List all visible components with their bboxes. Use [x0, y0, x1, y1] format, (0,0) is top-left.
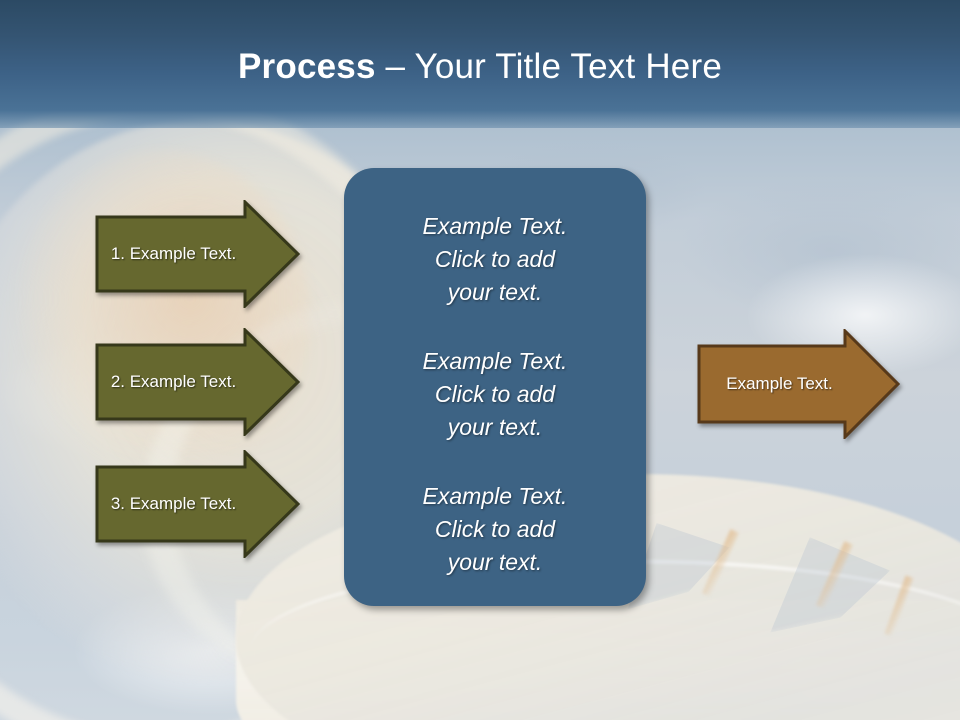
result-arrow[interactable]: Example Text. [697, 329, 900, 439]
process-step-arrow-2[interactable]: 2. Example Text. [95, 328, 300, 436]
center-text-block-1: Example Text. Click to add your text. [344, 210, 646, 309]
center-text-block-2: Example Text. Click to add your text. [344, 345, 646, 444]
page-title-rest: – Your Title Text Here [376, 47, 722, 86]
arrow-right-icon [95, 200, 300, 308]
arrow-right-icon [95, 450, 300, 558]
arrow-right-icon [697, 329, 900, 439]
page-title-bold: Process [238, 47, 376, 86]
center-content-box[interactable]: Example Text. Click to add your text. Ex… [344, 168, 646, 606]
center-content-box-inner: Example Text. Click to add your text. Ex… [344, 168, 646, 606]
slide-canvas: Process – Your Title Text Here 1. Exampl… [0, 0, 960, 720]
page-title: Process – Your Title Text Here [0, 46, 960, 88]
arrow-right-icon [95, 328, 300, 436]
process-step-arrow-3[interactable]: 3. Example Text. [95, 450, 300, 558]
process-step-arrow-1[interactable]: 1. Example Text. [95, 200, 300, 308]
center-text-block-3: Example Text. Click to add your text. [344, 480, 646, 579]
